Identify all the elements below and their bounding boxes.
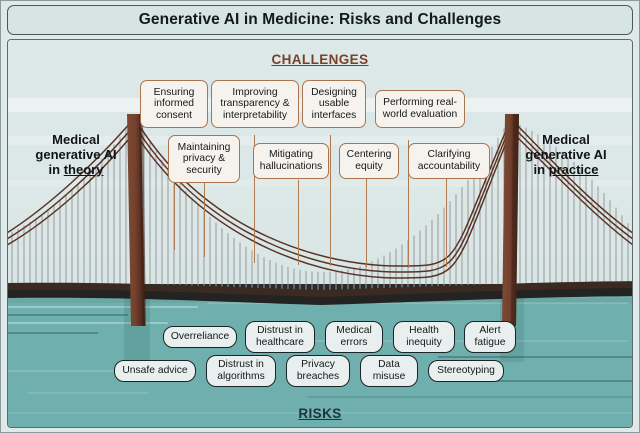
risk-box-medical-errors[interactable]: Medical errors <box>325 321 383 353</box>
challenge-box-centering-equity[interactable]: Centering equity <box>339 143 399 179</box>
risk-label: Unsafe advice <box>122 365 187 377</box>
challenge-label: Performing real-world evaluation <box>380 97 460 120</box>
challenge-box-clarifying-accountability[interactable]: Clarifying accountability <box>408 143 490 179</box>
challenge-stem <box>298 180 299 265</box>
risk-box-stereotyping[interactable]: Stereotyping <box>428 360 504 382</box>
challenge-label: Centering equity <box>344 149 394 172</box>
risk-box-unsafe-advice[interactable]: Unsafe advice <box>114 360 196 382</box>
left-label-line2: generative AI <box>35 147 116 162</box>
challenge-box-improving-transparency[interactable]: Improving transparency & interpretabilit… <box>211 80 299 128</box>
challenges-heading: CHALLENGES <box>8 52 632 67</box>
risk-label: Health inequity <box>399 325 449 348</box>
challenge-stem <box>366 179 367 267</box>
right-label-line2: generative AI <box>525 147 606 162</box>
right-label-line3-prefix: in <box>533 162 548 177</box>
challenge-label: Mitigating hallucinations <box>258 149 324 172</box>
challenge-label: Clarifying accountability <box>413 149 485 172</box>
risk-label: Distrust in algorithms <box>212 359 270 382</box>
risk-label: Privacy breaches <box>292 359 344 382</box>
page-title: Generative AI in Medicine: Risks and Cha… <box>139 11 501 29</box>
left-label-line1: Medical <box>52 132 100 147</box>
risk-label: Distrust in healthcare <box>251 325 309 348</box>
challenge-box-ensuring-informed-consent[interactable]: Ensuring informed consent <box>140 80 208 128</box>
challenge-label: Ensuring informed consent <box>145 87 203 122</box>
risk-label: Medical errors <box>331 325 377 348</box>
risk-box-alert-fatigue[interactable]: Alert fatigue <box>464 321 516 353</box>
challenge-stem <box>204 179 205 257</box>
infographic-poster: Generative AI in Medicine: Risks and Cha… <box>0 0 640 433</box>
right-label-line1: Medical <box>542 132 590 147</box>
risk-box-data-misuse[interactable]: Data misuse <box>360 355 418 387</box>
risk-box-overreliance[interactable]: Overreliance <box>163 326 237 348</box>
challenge-stem <box>446 179 447 267</box>
label-medical-genai-in-practice: Medical generative AI in practice <box>506 132 626 177</box>
challenge-box-performing-real-world-evaluation[interactable]: Performing real-world evaluation <box>375 90 465 128</box>
right-label-emphasis: practice <box>549 162 599 177</box>
risk-label: Data misuse <box>366 359 412 382</box>
challenge-label: Improving transparency & interpretabilit… <box>216 87 294 122</box>
risk-label: Alert fatigue <box>470 325 510 348</box>
risk-box-health-inequity[interactable]: Health inequity <box>393 321 455 353</box>
challenge-box-mitigating-hallucinations[interactable]: Mitigating hallucinations <box>253 143 329 179</box>
illustration-scene: CHALLENGES RISKS Medical generative AI i… <box>7 39 633 428</box>
challenge-label: Designing usable interfaces <box>307 87 361 122</box>
challenge-box-maintaining-privacy-security[interactable]: Maintaining privacy & security <box>168 135 240 183</box>
label-medical-genai-in-theory: Medical generative AI in theory <box>16 132 136 177</box>
challenge-stem <box>330 135 331 266</box>
risks-heading: RISKS <box>8 406 632 421</box>
risk-box-distrust-in-healthcare[interactable]: Distrust in healthcare <box>245 321 315 353</box>
risk-label: Overreliance <box>171 331 229 343</box>
risk-box-privacy-breaches[interactable]: Privacy breaches <box>286 355 350 387</box>
poster-title-bar: Generative AI in Medicine: Risks and Cha… <box>7 5 633 35</box>
risk-label: Stereotyping <box>437 365 495 377</box>
left-label-line3-prefix: in <box>49 162 64 177</box>
risk-box-distrust-in-algorithms[interactable]: Distrust in algorithms <box>206 355 276 387</box>
challenge-label: Maintaining privacy & security <box>173 142 235 177</box>
left-label-emphasis: theory <box>64 162 104 177</box>
challenge-box-designing-usable-interfaces[interactable]: Designing usable interfaces <box>302 80 366 128</box>
